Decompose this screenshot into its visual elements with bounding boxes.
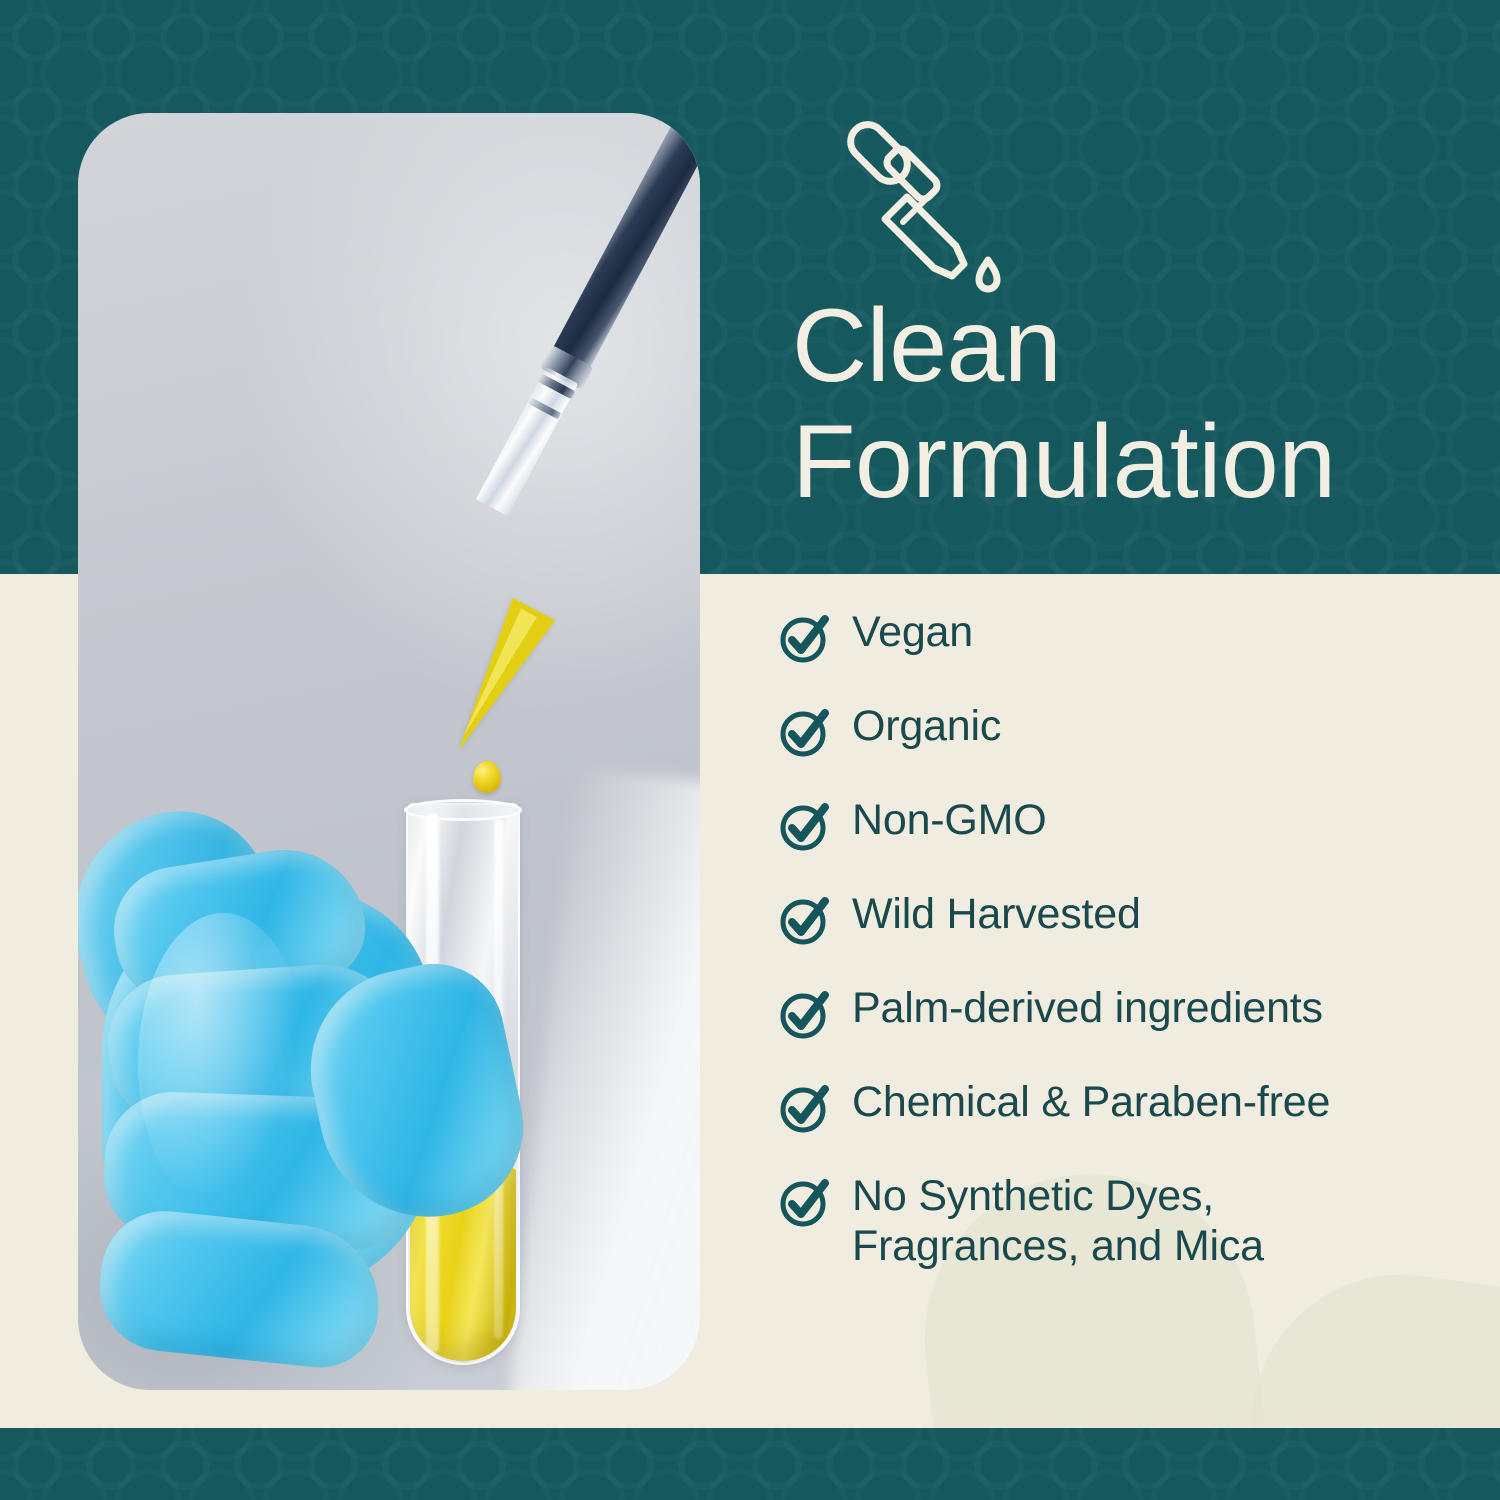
oil-droplet [473, 761, 501, 793]
check-circle-icon [778, 706, 830, 758]
check-circle-icon [778, 1082, 830, 1134]
list-item: Organic [778, 702, 1458, 758]
list-item-label: Chemical & Paraben-free [852, 1078, 1330, 1128]
title-line-1: Clean [792, 288, 1061, 404]
list-item-label: Wild Harvested [852, 890, 1141, 940]
list-item-label: Non-GMO [852, 796, 1047, 846]
list-item: Palm-derived ingredients [778, 984, 1458, 1040]
list-item-label: No Synthetic Dyes, Fragrances, and Mica [852, 1172, 1264, 1272]
list-item-label: Palm-derived ingredients [852, 984, 1323, 1034]
feature-list: Vegan Organic Non-GMO [778, 608, 1458, 1272]
list-item: Chemical & Paraben-free [778, 1078, 1458, 1134]
list-item-label: Vegan [852, 608, 973, 658]
lab-photo-card [78, 113, 700, 1390]
list-item: Vegan [778, 608, 1458, 664]
title-line-2: Formulation [792, 404, 1442, 520]
check-circle-icon [778, 894, 830, 946]
check-circle-icon [778, 1176, 830, 1228]
check-circle-icon [778, 988, 830, 1040]
list-item: No Synthetic Dyes, Fragrances, and Mica [778, 1172, 1458, 1272]
page-title: Clean Formulation [792, 288, 1442, 521]
promo-card: Clean Formulation Vegan [0, 0, 1500, 1500]
content-column: Clean Formulation Vegan [778, 0, 1458, 1500]
check-circle-icon [778, 612, 830, 664]
test-tube-rim [404, 799, 522, 821]
list-item-label: Organic [852, 702, 1001, 752]
dropper-icon [840, 118, 1020, 298]
list-item: Non-GMO [778, 796, 1458, 852]
check-circle-icon [778, 800, 830, 852]
list-item: Wild Harvested [778, 890, 1458, 946]
